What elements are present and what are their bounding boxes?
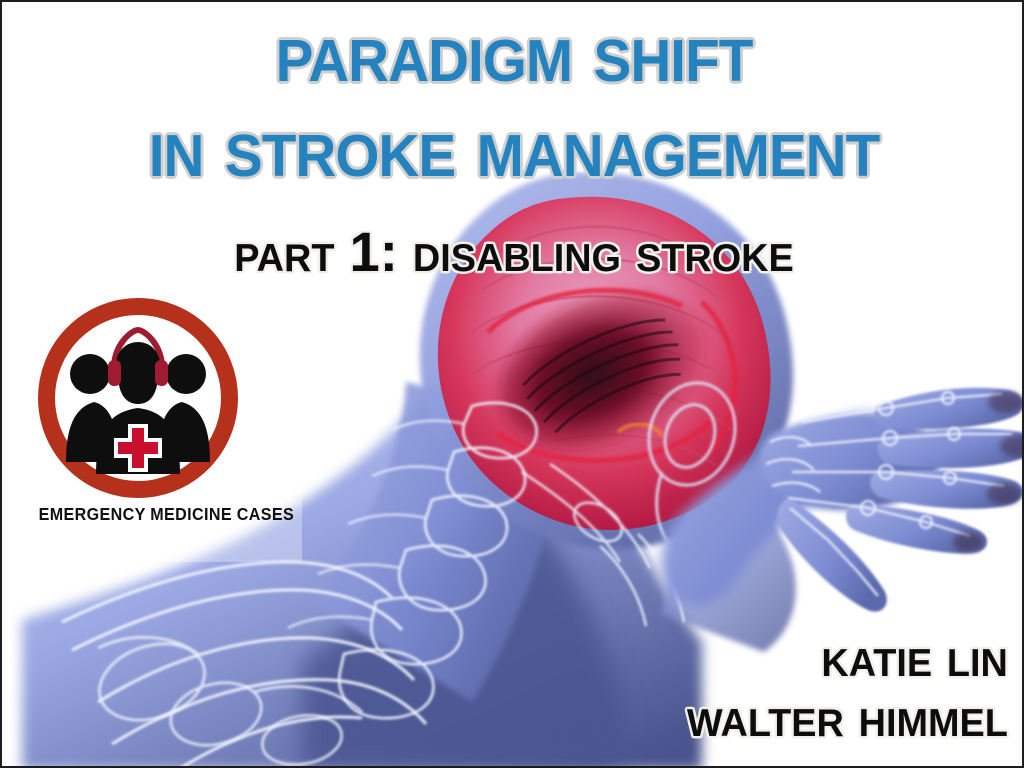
logo-headphone-cup-left (108, 360, 121, 386)
presentation-slide: Paradigm Shift in Stroke Management PArt… (0, 0, 1024, 768)
author-name-2: Walter Himmel (687, 688, 1008, 748)
page-title-line-2: in Stroke Management (22, 105, 1005, 189)
emergency-medicine-cases-logo[interactable]: EMERGENCY MEDICINE CASES (30, 298, 246, 526)
author-list: Katie Lin Walter Himmel (677, 628, 1008, 748)
page-title-line-1: Paradigm Shift (22, 10, 1005, 94)
author-name-1: Katie Lin (687, 628, 1008, 688)
logo-ring-wrapper (38, 298, 238, 498)
page-subtitle: PArt 1: Disabling Stroke (17, 224, 1010, 280)
logo-figures (56, 316, 220, 480)
logo-headphone-cup-right (155, 360, 168, 386)
logo-caption: EMERGENCY MEDICINE CASES (39, 504, 238, 525)
